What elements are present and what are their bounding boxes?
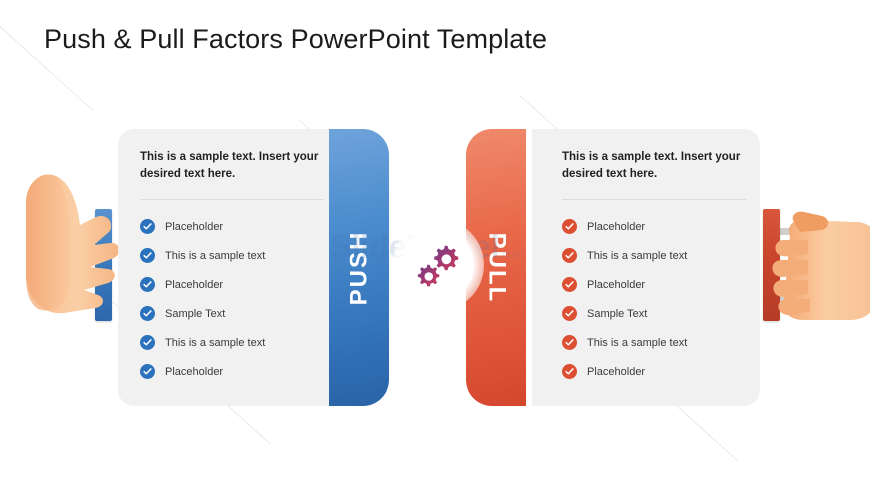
list-item[interactable]: Sample Text <box>562 299 687 328</box>
decorative-diagonal-line <box>0 0 94 111</box>
list-item-label: Placeholder <box>165 221 223 233</box>
list-item-label: Placeholder <box>165 366 223 378</box>
check-circle-icon <box>562 335 577 350</box>
list-item[interactable]: Placeholder <box>562 357 687 386</box>
push-heading-divider <box>140 199 324 200</box>
list-item[interactable]: Sample Text <box>140 299 265 328</box>
pull-feature-list: Placeholder This is a sample text Placeh… <box>562 212 687 386</box>
list-item[interactable]: This is a sample text <box>562 328 687 357</box>
push-feature-list: Placeholder This is a sample text Placeh… <box>140 212 265 386</box>
list-item[interactable]: Placeholder <box>562 270 687 299</box>
check-circle-icon <box>140 306 155 321</box>
list-item[interactable]: Placeholder <box>140 212 265 241</box>
check-circle-icon <box>562 219 577 234</box>
list-item[interactable]: Placeholder <box>140 270 265 299</box>
list-item[interactable]: This is a sample text <box>562 241 687 270</box>
list-item-label: This is a sample text <box>587 250 687 262</box>
slide-title: Push & Pull Factors PowerPoint Template <box>44 24 547 55</box>
check-circle-icon <box>562 248 577 263</box>
check-circle-icon <box>562 277 577 292</box>
list-item-label: Placeholder <box>587 221 645 233</box>
check-circle-icon <box>140 248 155 263</box>
check-circle-icon <box>140 277 155 292</box>
push-card-heading: This is a sample text. Insert your desir… <box>140 149 320 182</box>
push-panel[interactable]: PUSH <box>329 129 389 406</box>
list-item-label: Placeholder <box>587 366 645 378</box>
gears-icon <box>412 240 464 292</box>
list-item[interactable]: This is a sample text <box>140 328 265 357</box>
list-item-label: Placeholder <box>165 279 223 291</box>
list-item[interactable]: Placeholder <box>140 357 265 386</box>
slide-canvas: Push & Pull Factors PowerPoint Template … <box>0 0 870 489</box>
pull-heading-divider <box>562 199 746 200</box>
push-panel-label-wrap: PUSH <box>329 129 389 406</box>
open-hand-pushing-icon <box>24 163 120 323</box>
list-item[interactable]: This is a sample text <box>140 241 265 270</box>
list-item-label: This is a sample text <box>165 337 265 349</box>
check-circle-icon <box>140 219 155 234</box>
pull-content-card: This is a sample text. Insert your desir… <box>532 129 760 406</box>
check-circle-icon <box>562 306 577 321</box>
list-item-label: Placeholder <box>587 279 645 291</box>
list-item-label: This is a sample text <box>587 337 687 349</box>
check-circle-icon <box>140 335 155 350</box>
check-circle-icon <box>562 364 577 379</box>
pull-panel-label: PULL <box>482 232 510 303</box>
closed-hand-pulling-icon <box>760 192 870 327</box>
list-item-label: Sample Text <box>165 308 225 320</box>
list-item-label: This is a sample text <box>165 250 265 262</box>
push-panel-label: PUSH <box>345 230 373 305</box>
list-item[interactable]: Placeholder <box>562 212 687 241</box>
list-item-label: Sample Text <box>587 308 647 320</box>
pull-card-heading: This is a sample text. Insert your desir… <box>562 149 746 182</box>
push-content-card: This is a sample text. Insert your desir… <box>118 129 338 406</box>
check-circle-icon <box>140 364 155 379</box>
